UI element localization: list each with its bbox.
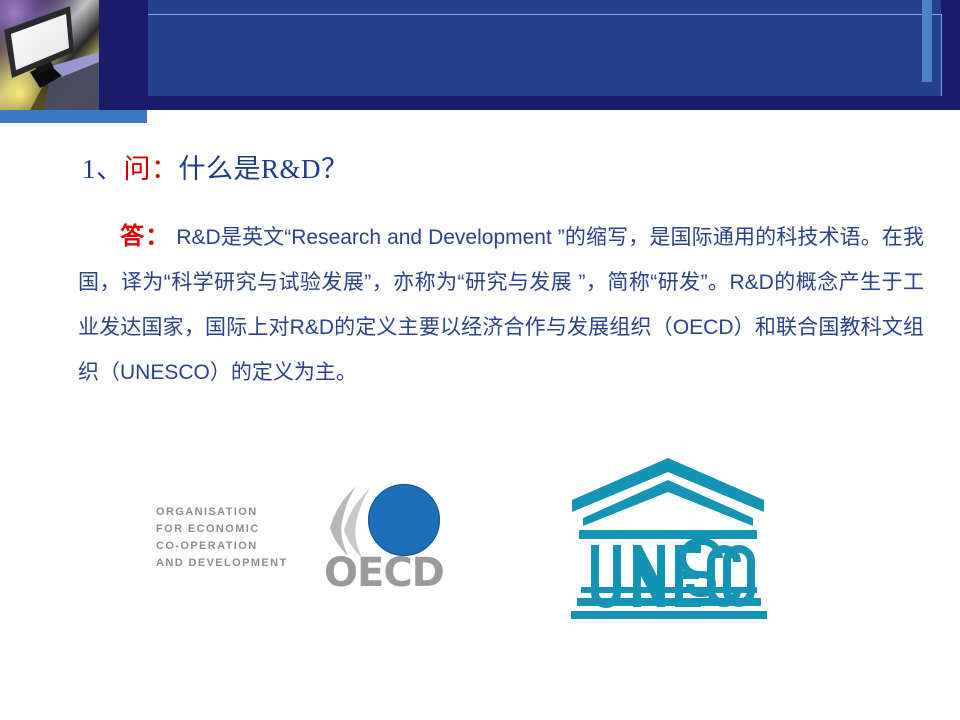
slide-body-paragraph: 答： R&D是英文“Research and Development ”的缩写，… xyxy=(78,214,924,395)
header-right-vertical-rule xyxy=(941,14,942,96)
oecd-acronym: OECD xyxy=(324,552,444,594)
header-hairline-divider xyxy=(148,14,941,15)
oecd-name-line-4: AND DEVELOPMENT xyxy=(156,555,316,572)
answer-body-text: R&D是英文“Research and Development ”的缩写，是国际… xyxy=(78,226,924,384)
oecd-circle-mark xyxy=(368,484,440,556)
oecd-swoosh-icon xyxy=(326,484,374,560)
oecd-logo: ORGANISATION FOR ECONOMIC CO-OPERATION A… xyxy=(144,472,468,600)
oecd-name-line-2: FOR ECONOMIC xyxy=(156,521,316,538)
header-banner xyxy=(0,0,960,110)
oecd-name-line-3: CO-OPERATION xyxy=(156,538,316,555)
slide-title-question-label: 问： xyxy=(124,154,179,184)
slide-title: 1、问：什么是R&D？ xyxy=(82,151,349,187)
slide-title-number: 1、 xyxy=(82,154,124,184)
oecd-name-line-1: ORGANISATION xyxy=(156,504,316,521)
oecd-full-name: ORGANISATION FOR ECONOMIC CO-OPERATION A… xyxy=(156,504,316,572)
header-decorative-image xyxy=(0,0,99,110)
header-accent-bar xyxy=(922,0,932,82)
computer-monitor-icon xyxy=(0,0,99,110)
answer-label: 答： xyxy=(120,223,170,250)
unesco-logo xyxy=(557,450,779,625)
unesco-temple-icon xyxy=(557,450,779,625)
header-blue-tab xyxy=(0,110,147,123)
slide-title-text: 什么是R&D？ xyxy=(179,154,349,184)
